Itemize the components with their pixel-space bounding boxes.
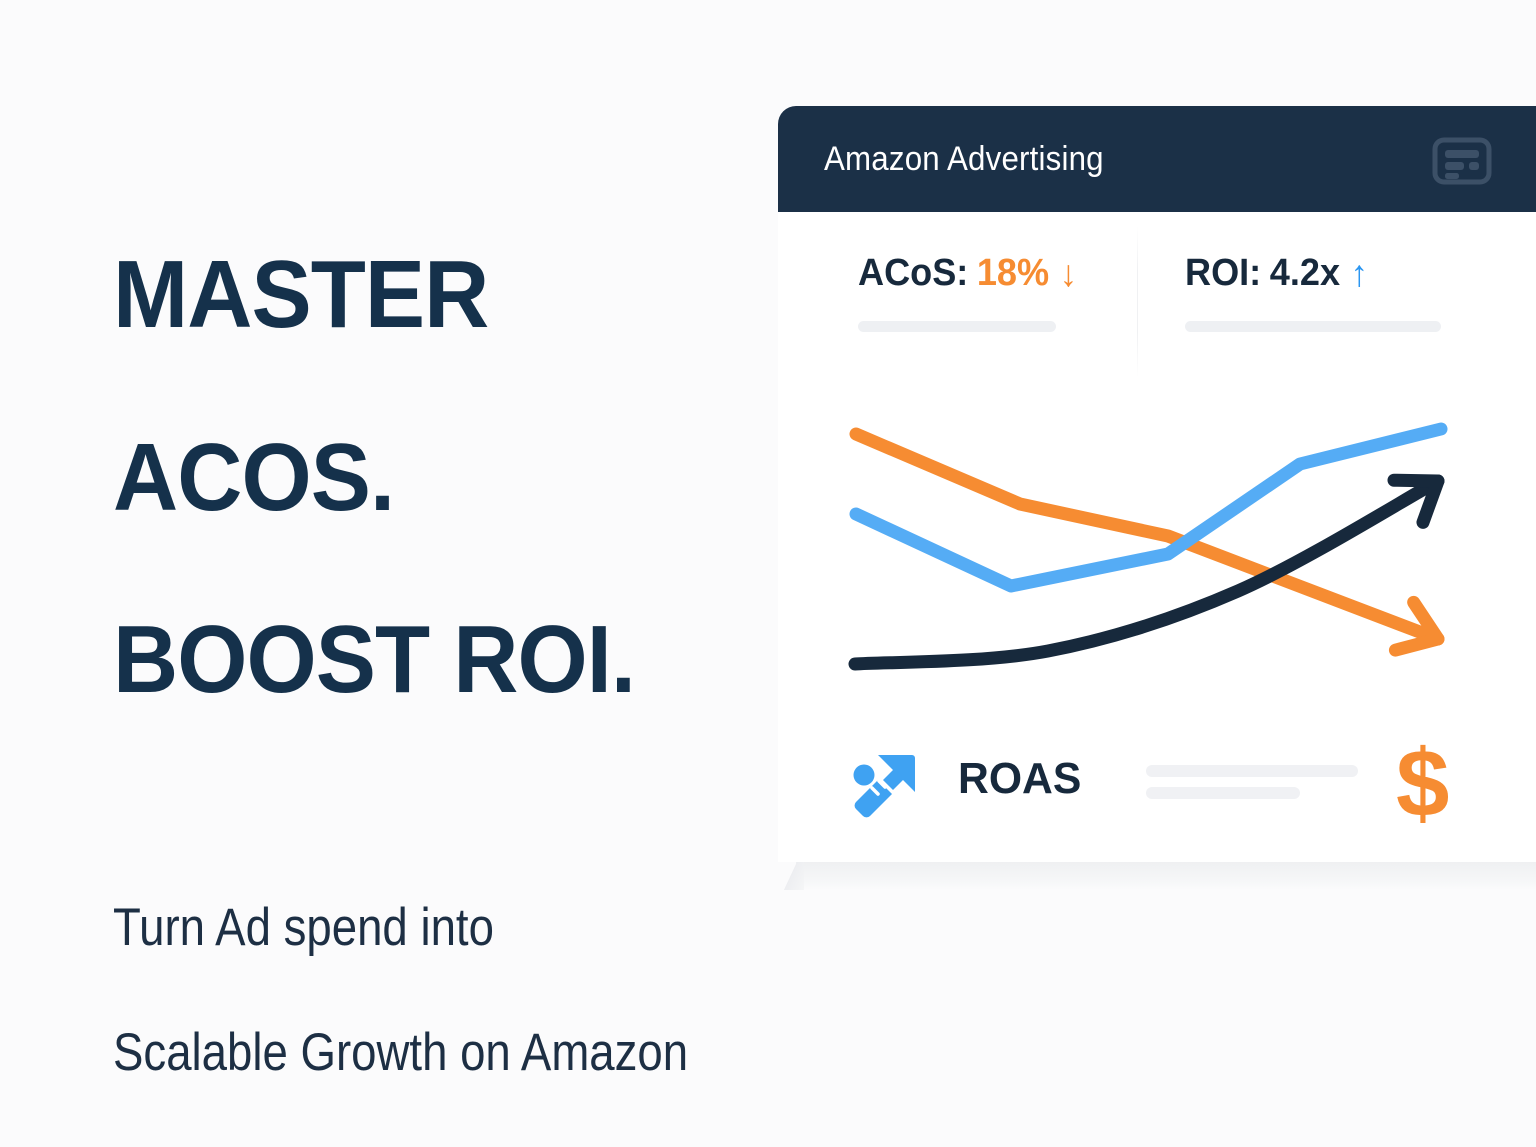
subtitle-line-1: Turn Ad spend into: [113, 897, 715, 960]
chart-series-1: [856, 429, 1441, 586]
kpi-tile-acos[interactable]: ACoS: 18% ↓: [778, 212, 1137, 392]
card-base-shadow: [796, 862, 1536, 890]
performance-line-chart[interactable]: [838, 406, 1518, 696]
hero-copy: MASTER ACOS. BOOST ROI. Turn Ad spend in…: [113, 158, 813, 1147]
headline-line-2: ACOS.: [113, 432, 771, 523]
kpi-roi-label: ROI:: [1185, 252, 1261, 295]
roas-label: ROAS: [958, 754, 1081, 804]
page-title: MASTER ACOS. BOOST ROI.: [113, 158, 771, 796]
dollar-sign-icon: $: [1396, 736, 1449, 832]
chart-series-2: [855, 481, 1438, 664]
card-base-bevel: [778, 862, 804, 890]
kpi-roi-line: ROI: 4.2x ↑: [1185, 252, 1518, 295]
growth-arrow-person-icon: [848, 750, 922, 824]
headline-line-1: MASTER: [113, 249, 771, 340]
hero-subtitle: Turn Ad spend into Scalable Growth on Am…: [113, 834, 715, 1147]
footer-placeholder-bar-1: [1146, 765, 1358, 777]
arrow-down-icon: ↓: [1060, 255, 1078, 292]
headline-line-3: BOOST ROI.: [113, 614, 771, 705]
kpi-tile-roi[interactable]: ROI: 4.2x ↑: [1137, 212, 1536, 392]
kpi-roi-placeholder-bar: [1185, 321, 1441, 332]
amazon-advertising-card: Amazon Advertising ACoS: 18% ↓ ROI:: [778, 106, 1536, 862]
arrow-up-icon: ↑: [1350, 255, 1368, 292]
dashboard-layout-icon[interactable]: [1432, 137, 1492, 185]
kpi-acos-label: ACoS:: [858, 252, 968, 295]
chart-svg: [838, 406, 1518, 696]
kpi-acos-value: 18%: [977, 252, 1049, 295]
kpi-acos-placeholder-bar: [858, 321, 1056, 332]
card-header: Amazon Advertising: [778, 106, 1536, 212]
kpi-row: ACoS: 18% ↓ ROI: 4.2x ↑: [778, 212, 1536, 392]
footer-placeholder-bar-2: [1146, 787, 1300, 799]
subtitle-line-2: Scalable Growth on Amazon: [113, 1022, 715, 1085]
card-footer-row: ROAS $: [778, 736, 1536, 846]
kpi-roi-value: 4.2x: [1270, 252, 1340, 295]
kpi-acos-line: ACoS: 18% ↓: [858, 252, 1123, 295]
card-title: Amazon Advertising: [824, 140, 1104, 179]
